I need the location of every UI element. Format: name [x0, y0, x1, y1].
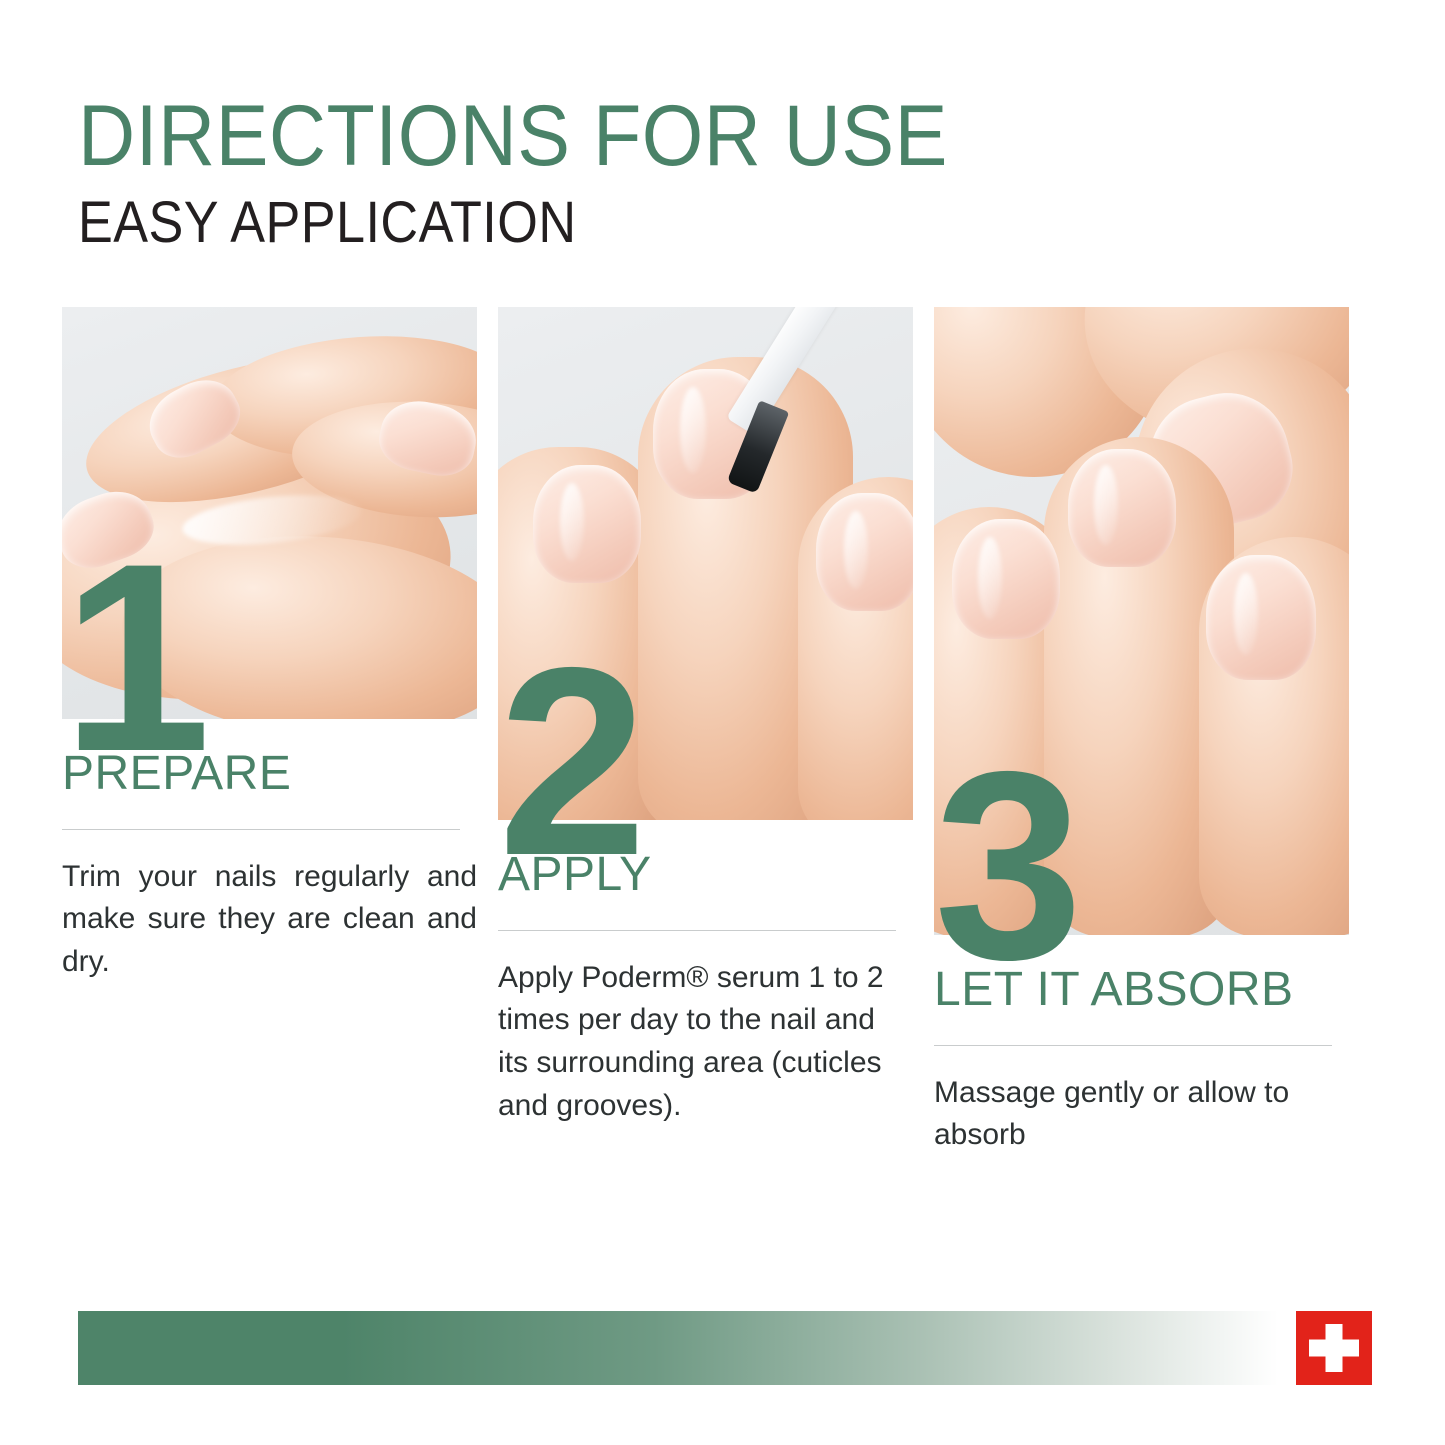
nail-left: [952, 519, 1060, 639]
nail-right: [1206, 555, 1316, 680]
step-number-1: 1: [62, 523, 211, 791]
page-title: DIRECTIONS FOR USE: [78, 96, 1182, 178]
nail-highlight-left: [560, 483, 584, 561]
nail-highlight-left: [978, 537, 1002, 619]
nail-middle: [1068, 449, 1176, 567]
step-3-divider: [934, 1045, 1332, 1046]
page-header: DIRECTIONS FOR USE EASY APPLICATION: [78, 96, 1278, 252]
step-2-divider: [498, 930, 896, 931]
nail-highlight-right: [1234, 573, 1258, 655]
step-1-divider: [62, 829, 460, 830]
page-subtitle: EASY APPLICATION: [78, 194, 1158, 252]
step-number-3: 3: [934, 731, 1083, 999]
nail-highlight-right: [844, 511, 868, 589]
step-2-body: Apply Poderm® serum 1 to 2 times per day…: [498, 957, 913, 1127]
footer-gradient-bar: [78, 1311, 1278, 1385]
nail-highlight-middle: [1094, 465, 1118, 545]
cross-horizontal-bar: [1309, 1340, 1359, 1357]
step-3-body: Massage gently or allow to absorb: [934, 1072, 1349, 1157]
nail-highlight-middle: [680, 387, 706, 473]
step-number-2: 2: [498, 627, 647, 895]
step-1-body: Trim your nails regularly and make sure …: [62, 856, 477, 984]
nail-left: [533, 465, 641, 583]
steps-container: PREPARE Trim your nails regularly and ma…: [0, 307, 1445, 1267]
swiss-cross-icon: [1296, 1311, 1372, 1385]
